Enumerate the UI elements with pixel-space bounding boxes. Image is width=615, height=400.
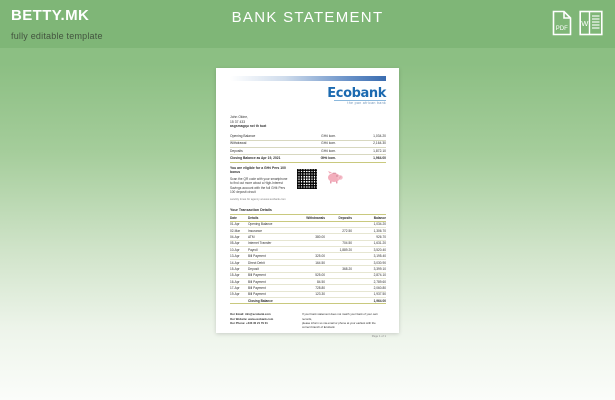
transactions-body: 01-AprOpening Balance1,034.20 02-MarInsu…	[230, 221, 386, 304]
brand-subtitle: fully editable template	[11, 30, 103, 42]
cell-withdrawals	[302, 298, 332, 304]
summary-amount: 2,164.30	[346, 140, 386, 147]
column-header-withdrawals: Withdrawals	[302, 215, 332, 222]
footer-disclaimer: If your bank statement does not match yo…	[302, 312, 384, 329]
balance-summary-table: Opening Balance GH¢ kom. 1,034.20 Withdr…	[230, 134, 386, 163]
customer-address-block: John Okine, 15 37 433 asgsmagqu nct th t…	[230, 115, 386, 129]
file-format-icons: PDF W	[552, 10, 603, 41]
cell-total-balance: 1,964.00	[358, 298, 386, 304]
cell-date	[230, 298, 248, 304]
summary-label: Deposits	[230, 148, 316, 155]
summary-row: Deposits GH¢ kom. 1,872.10	[230, 148, 386, 155]
summary-row: Withdrawal GH¢ kom. 2,164.30	[230, 140, 386, 147]
summary-row: Opening Balance GH¢ kom. 1,034.20	[230, 134, 386, 141]
cell-deposits	[332, 298, 358, 304]
top-banner: BETTY.MK fully editable template BANK ST…	[0, 0, 615, 48]
statement-document[interactable]: Ecobank the pan african bank John Okine,…	[216, 68, 399, 333]
column-header-balance: Balance	[358, 215, 386, 222]
svg-text:W: W	[581, 19, 589, 28]
logo-underline	[334, 100, 386, 101]
transactions-title: Your Transaction Details	[230, 208, 386, 213]
summary-label: Closing Balance as Apr 19, 2021	[230, 155, 316, 162]
summary-currency: GH¢ kom.	[316, 134, 346, 141]
page-number: Page 1 of 1	[230, 334, 386, 338]
summary-label: Withdrawal	[230, 140, 316, 147]
pdf-file-icon[interactable]: PDF	[552, 10, 572, 41]
summary-label: Opening Balance	[230, 134, 316, 141]
summary-amount: 1,964.00	[346, 155, 386, 162]
promo-body: Scan the QR code with your smartphone to…	[230, 177, 290, 195]
transactions-table: Date Details Withdrawals Deposits Balanc…	[230, 214, 386, 304]
footer-contact: Our Email: info@ecobank.com Our Website:…	[230, 312, 292, 329]
summary-amount: 1,872.10	[346, 148, 386, 155]
ecobank-logo-wordmark: Ecobank	[230, 87, 386, 100]
document-footer: Our Email: info@ecobank.com Our Website:…	[230, 312, 386, 329]
page-title: BANK STATEMENT	[0, 9, 615, 26]
summary-amount: 1,034.20	[346, 134, 386, 141]
column-header-details: Details	[248, 215, 302, 222]
column-header-date: Date	[230, 215, 248, 222]
promo-note: sanctity times for agency at www.ecobank…	[230, 198, 386, 202]
summary-currency: GH¢ kom.	[316, 148, 346, 155]
table-row-total: Closing Balance 1,964.00	[230, 298, 386, 304]
table-header-row: Date Details Withdrawals Deposits Balanc…	[230, 215, 386, 222]
summary-row-closing: Closing Balance as Apr 19, 2021 GH¢ kom.…	[230, 155, 386, 162]
disclaimer-line: correct branch of Ecobank	[302, 325, 384, 329]
promo-block: You are eligible for a GH¢ Pers 100 bonu…	[230, 166, 386, 202]
summary-currency: GH¢ kom.	[316, 140, 346, 147]
ecobank-logo-tagline: the pan african bank	[230, 101, 386, 106]
svg-text:PDF: PDF	[556, 26, 568, 32]
promo-heading: You are eligible for a GH¢ Pers 100 bonu…	[230, 166, 290, 176]
footer-phone: Our Phone: +233 30 21 79 01	[230, 321, 292, 325]
cell-total-label: Closing Balance	[248, 298, 302, 304]
address-line: asgsmagqu nct th tuat	[230, 124, 386, 129]
qr-code[interactable]	[296, 168, 318, 190]
ecobank-logo: Ecobank the pan african bank	[230, 87, 386, 109]
word-file-icon[interactable]: W	[579, 10, 603, 41]
summary-currency: GH¢ kom.	[316, 155, 346, 162]
column-header-deposits: Deposits	[332, 215, 358, 222]
disclaimer-line: If your bank statement does not match yo…	[302, 312, 384, 320]
document-header-bar	[230, 76, 386, 81]
piggy-bank-icon	[326, 170, 343, 184]
